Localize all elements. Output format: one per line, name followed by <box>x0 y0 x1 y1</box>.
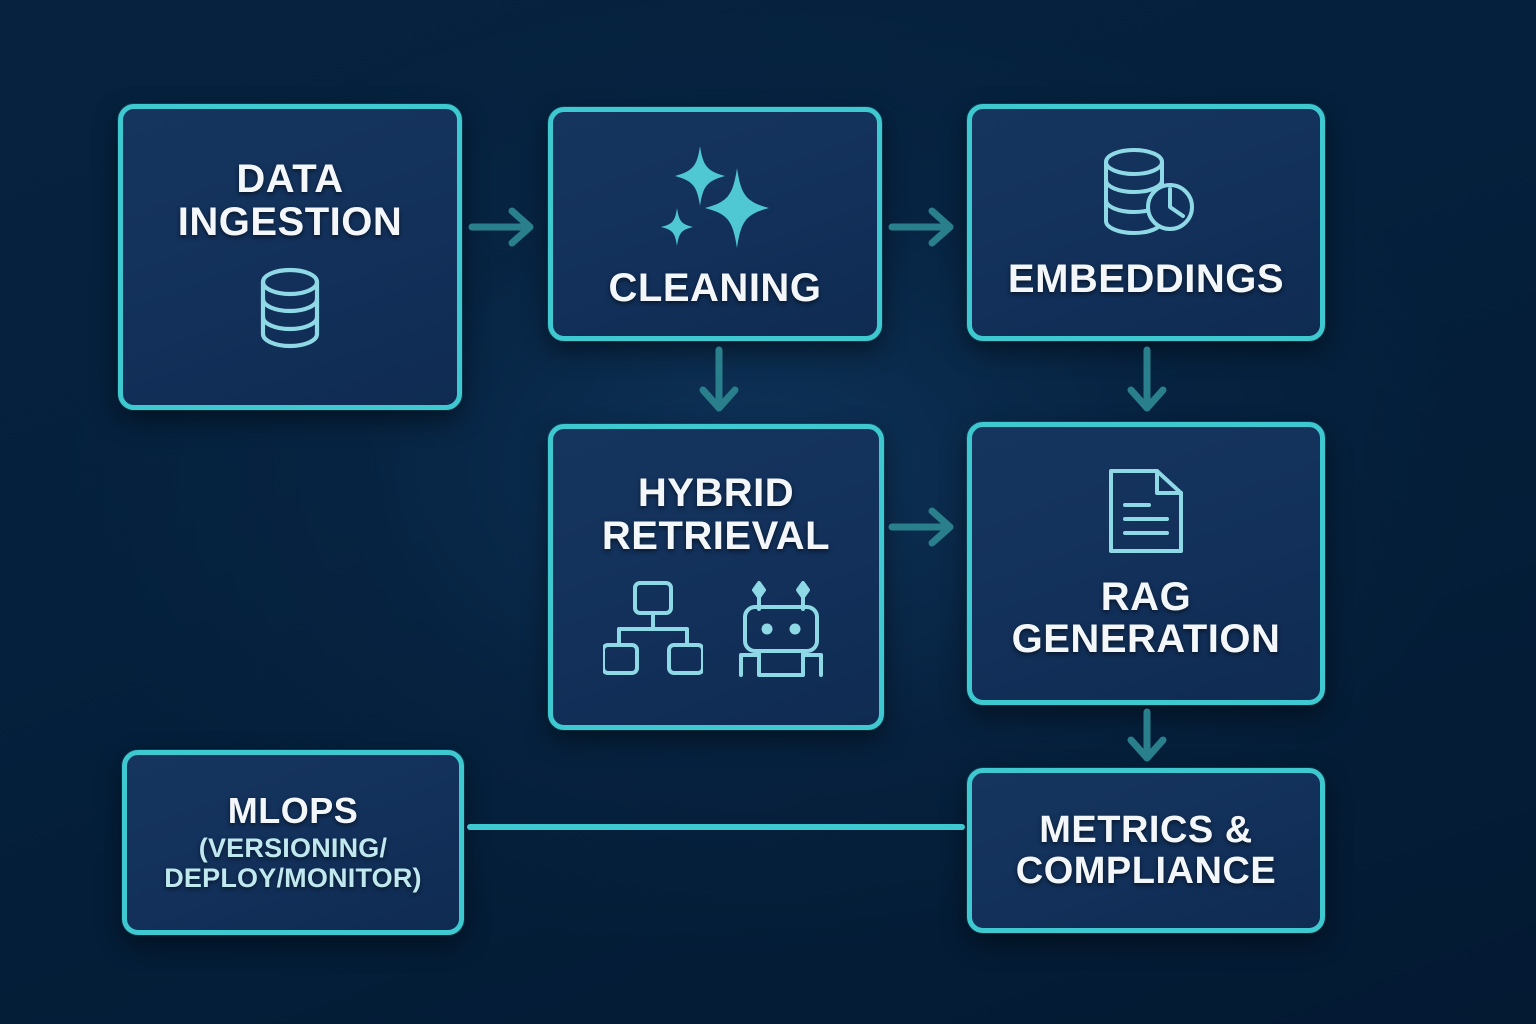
edge-ingestion-to-cleaning <box>466 196 546 258</box>
robot-icon <box>733 579 829 682</box>
node-label-data-ingestion: DATA INGESTION <box>178 158 403 243</box>
hybrid-icon-group <box>603 579 829 682</box>
diagram-canvas: DATA INGESTION CLEANING <box>0 0 1536 1024</box>
node-mlops[interactable]: MLOPS (VERSIONING/ DEPLOY/MONITOR) <box>122 750 464 935</box>
hierarchy-icon <box>603 579 703 682</box>
node-label-cleaning: CLEANING <box>609 267 822 309</box>
edge-cleaning-to-embeddings <box>886 196 966 258</box>
node-metrics-compliance[interactable]: METRICS & COMPLIANCE <box>967 768 1325 933</box>
node-rag-generation[interactable]: RAG GENERATION <box>967 422 1325 705</box>
database-icon <box>253 265 327 356</box>
node-cleaning[interactable]: CLEANING <box>548 107 882 341</box>
node-label-mlops: MLOPS <box>228 792 359 830</box>
edge-rag-to-metrics <box>1116 708 1178 770</box>
edge-hybrid-to-rag <box>886 496 966 558</box>
node-label-embeddings: EMBEDDINGS <box>1008 258 1284 300</box>
edge-embeddings-to-rag <box>1116 344 1178 424</box>
node-label-hybrid-retrieval: HYBRID RETRIEVAL <box>602 472 830 557</box>
node-embeddings[interactable]: EMBEDDINGS <box>967 104 1325 341</box>
sparkles-icon <box>655 138 775 253</box>
node-data-ingestion[interactable]: DATA INGESTION <box>118 104 462 410</box>
edge-mlops-to-metrics <box>466 820 966 832</box>
node-label-metrics-compliance: METRICS & COMPLIANCE <box>1016 810 1276 891</box>
node-label-rag-generation: RAG GENERATION <box>1012 576 1281 661</box>
node-hybrid-retrieval[interactable]: HYBRID RETRIEVAL <box>548 424 884 730</box>
database-clock-icon <box>1092 145 1200 246</box>
document-icon <box>1105 467 1187 560</box>
node-sublabel-mlops: (VERSIONING/ DEPLOY/MONITOR) <box>164 834 422 893</box>
edge-cleaning-to-hybrid <box>688 344 750 424</box>
